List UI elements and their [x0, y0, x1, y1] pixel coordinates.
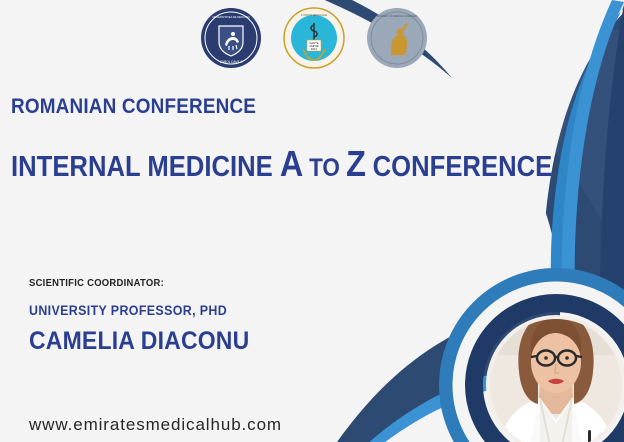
coordinator-label: SCIENTIFIC COORDINATOR: — [29, 277, 245, 289]
title-letter-z: Z — [346, 143, 365, 184]
union-medicale-balkanique-logo: SANTE AMITIE PAIX L'UNION MEDICALE — [283, 7, 345, 69]
portrait-ring-inner-navy — [474, 303, 624, 442]
svg-text:PAIX: PAIX — [311, 47, 317, 51]
title-part-one: INTERNAL MEDICINE — [11, 151, 280, 183]
svg-text:UNIVERSITATEA DE MEDICINA: UNIVERSITATEA DE MEDICINA — [212, 15, 250, 19]
bottom-band-navy — [330, 300, 560, 442]
coordinator-name: CAMELIA DIACONU — [29, 327, 249, 356]
glasses-icon — [531, 351, 582, 366]
coordinator-block: SCIENTIFIC COORDINATOR: UNIVERSITY PROFE… — [29, 277, 269, 356]
bottom-band-blue — [358, 362, 560, 442]
carol-davila-university-logo: UNIVERSITATEA DE MEDICINA CAROL DAVILA — [200, 7, 262, 69]
svg-text:ACADEMY OF MEDICAL SCIENCES: ACADEMY OF MEDICAL SCIENCES — [377, 15, 417, 18]
portrait-ring-outer-blue — [446, 275, 624, 442]
headline-block: ROMANIAN CONFERENCE INTERNAL MEDICINE A … — [11, 96, 591, 182]
website-url[interactable]: www.emiratesmedicalhub.com — [29, 415, 282, 435]
portrait-ring-white-gap — [459, 288, 624, 442]
portrait-ring-white-inner — [486, 315, 624, 442]
title-to-word: TO — [303, 154, 346, 182]
svg-text:CAROL DAVILA: CAROL DAVILA — [220, 60, 244, 64]
face — [531, 331, 581, 393]
swoosh-edge-navy — [600, 4, 624, 300]
title-part-two: CONFERENCE — [366, 151, 553, 183]
organizer-logos: UNIVERSITATEA DE MEDICINA CAROL DAVILA S… — [200, 6, 428, 70]
coordinator-rank: UNIVERSITY PROFESSOR, PHD — [29, 303, 249, 318]
academy-statue-logo: ACADEMY OF MEDICAL SCIENCES — [366, 7, 428, 69]
page-title: INTERNAL MEDICINE A TO Z CONFERENCE — [11, 146, 533, 182]
conference-poster: UNIVERSITATEA DE MEDICINA CAROL DAVILA S… — [0, 0, 624, 442]
title-letter-a: A — [280, 143, 303, 184]
camelia-diaconu-portrait — [486, 312, 624, 442]
kicker-text: ROMANIAN CONFERENCE — [11, 96, 521, 118]
svg-text:L'UNION MEDICALE: L'UNION MEDICALE — [301, 13, 327, 17]
